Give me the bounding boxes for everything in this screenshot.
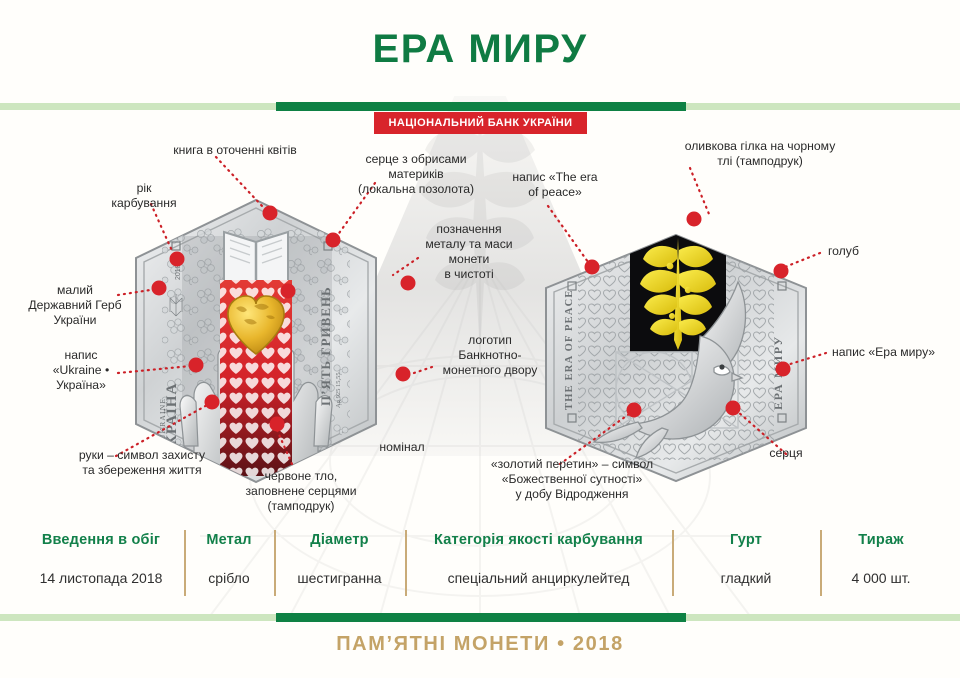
page-title: ЕРА МИРУ xyxy=(0,27,960,72)
table-column-5: Тираж 4 000 шт. xyxy=(820,528,942,602)
callout-era-of-peace-ua: напис «Ера миру» xyxy=(832,345,960,360)
callout-hearts: серця xyxy=(744,446,828,461)
table-cell: 14 листопада 2018 xyxy=(40,570,163,586)
svg-text:П’ЯТЬ ГРИВЕНЬ: П’ЯТЬ ГРИВЕНЬ xyxy=(318,286,333,406)
table-column-1: Метал срібло xyxy=(184,528,274,602)
table-header: Метал xyxy=(206,532,251,548)
table-cell: шестигранна xyxy=(297,570,381,586)
footer-text: ПАМ’ЯТНІ МОНЕТИ • 2018 xyxy=(0,633,960,656)
table-cell: спеціальний анциркулейтед xyxy=(448,570,630,586)
table-header: Тираж xyxy=(858,532,903,548)
table-column-4: Гурт гладкий xyxy=(672,528,820,602)
callout-olive-branch: оливкова гілка на чорному тлі (тамподрук… xyxy=(660,139,860,169)
svg-text:ЕРА МИРУ: ЕРА МИРУ xyxy=(771,335,785,410)
table-header: Гурт xyxy=(730,532,762,548)
table-cell: срібло xyxy=(208,570,249,586)
callout-face-value: номінал xyxy=(352,440,452,455)
callout-hands: руки – символ захисту та збереження житт… xyxy=(52,448,232,478)
svg-text:Ag 925 15,55: Ag 925 15,55 xyxy=(335,372,342,408)
table-header: Введення в обіг xyxy=(42,532,160,548)
callout-golden-ratio: «золотий перетин» – символ «Божественної… xyxy=(460,457,684,502)
table-column-3: Категорія якості карбування спеціальний … xyxy=(405,528,672,602)
bank-banner: НАЦІОНАЛЬНИЙ БАНК УКРАЇНИ xyxy=(374,112,587,134)
table-header: Категорія якості карбування xyxy=(434,532,643,548)
table-column-0: Введення в обіг 14 листопада 2018 xyxy=(18,528,184,602)
callout-red-background: червоне тло, заповнене серцями (тамподру… xyxy=(226,469,376,514)
callout-small-coat-of-arms: малий Державний Герб України xyxy=(20,283,130,328)
table-header: Діаметр xyxy=(310,532,368,548)
table-cell: гладкий xyxy=(721,570,772,586)
obverse-coin: УКРАЇНА UKRAINE 2018 П’ЯТЬ ГРИВЕНЬ Ag 92… xyxy=(132,196,380,486)
callout-the-era-of-peace: напис «The era of peace» xyxy=(500,170,610,200)
divider-dark-top xyxy=(276,102,686,111)
callout-book: книга в оточенні квітів xyxy=(160,143,310,158)
infographic-page: ЕРА МИРУ НАЦІОНАЛЬНИЙ БАНК УКРАЇНИ xyxy=(0,0,960,678)
svg-text:THE ERA OF PEACE: THE ERA OF PEACE xyxy=(564,289,575,410)
svg-text:2018: 2018 xyxy=(175,264,182,280)
table-column-2: Діаметр шестигранна xyxy=(274,528,405,602)
table-cell: 4 000 шт. xyxy=(852,570,911,586)
callout-metal-mass: позначення металу та маси монети в чисто… xyxy=(413,222,525,282)
divider-dark-bottom xyxy=(276,613,686,622)
callout-mint-logo: логотип Банкнотно- монетного двору xyxy=(430,333,550,378)
callout-year: рік карбування xyxy=(88,181,200,211)
specifications-table: Введення в обіг 14 листопада 2018 Метал … xyxy=(18,528,942,602)
svg-text:UKRAINE: UKRAINE xyxy=(158,398,167,440)
callout-heart-continents: серце з обрисами материків (локальна поз… xyxy=(340,152,492,197)
callout-dove: голуб xyxy=(828,244,928,259)
callout-inscription-ukraine: напис «Ukraine • Україна» xyxy=(30,348,132,393)
